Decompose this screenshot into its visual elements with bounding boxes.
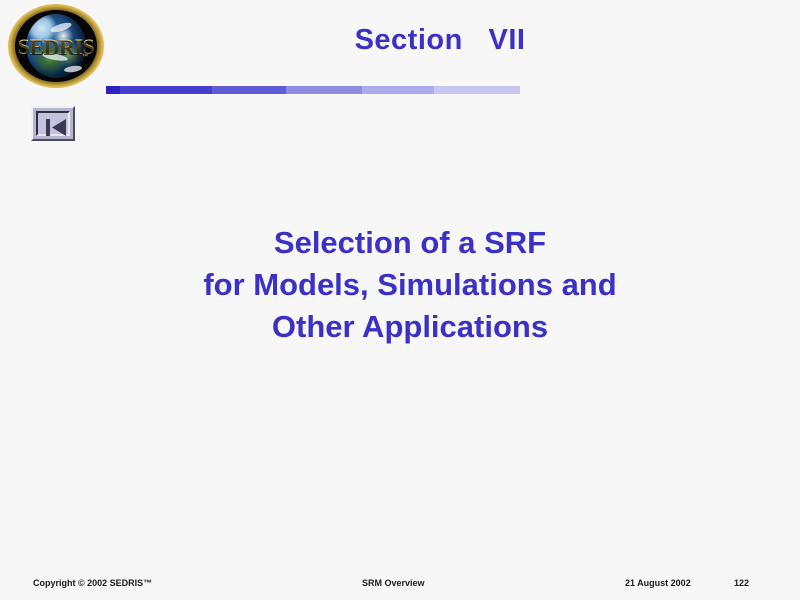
slide-title-line: Selection of a SRF: [60, 222, 760, 264]
first-slide-button[interactable]: [31, 106, 75, 141]
rule-bar-segment-4: [362, 86, 434, 94]
section-heading: Section VII: [200, 24, 680, 57]
rule-bar-segment-1: [120, 86, 212, 94]
skip-to-start-icon: [46, 119, 68, 136]
sedris-logo: SEDRIS ™: [8, 4, 104, 88]
slide-title-line: for Models, Simulations and: [60, 264, 760, 306]
cloud-shape: [64, 65, 83, 73]
rule-bar-segment-2: [212, 86, 286, 94]
rule-bar-segment-5: [434, 86, 520, 94]
logo-inner-disc: SEDRIS ™: [15, 10, 97, 82]
gradient-rule-bar: [106, 86, 520, 94]
cloud-shape: [49, 21, 72, 34]
footer-copyright: Copyright © 2002 SEDRIS™: [33, 578, 152, 588]
button-face: [36, 111, 70, 136]
footer-date: 21 August 2002: [625, 578, 691, 588]
slide-title: Selection of a SRF for Models, Simulatio…: [60, 222, 760, 348]
slide-canvas: SEDRIS ™ Section VII Selection of a SRF …: [0, 0, 800, 600]
footer-deck-name: SRM Overview: [362, 578, 425, 588]
slide-title-line: Other Applications: [60, 306, 760, 348]
rule-bar-segment-3: [286, 86, 362, 94]
logo-trademark-symbol: ™: [82, 54, 88, 60]
footer-page-number: 122: [734, 578, 749, 588]
rule-bar-segment-0: [106, 86, 120, 94]
slide-footer: Copyright © 2002 SEDRIS™ SRM Overview 21…: [0, 578, 800, 592]
